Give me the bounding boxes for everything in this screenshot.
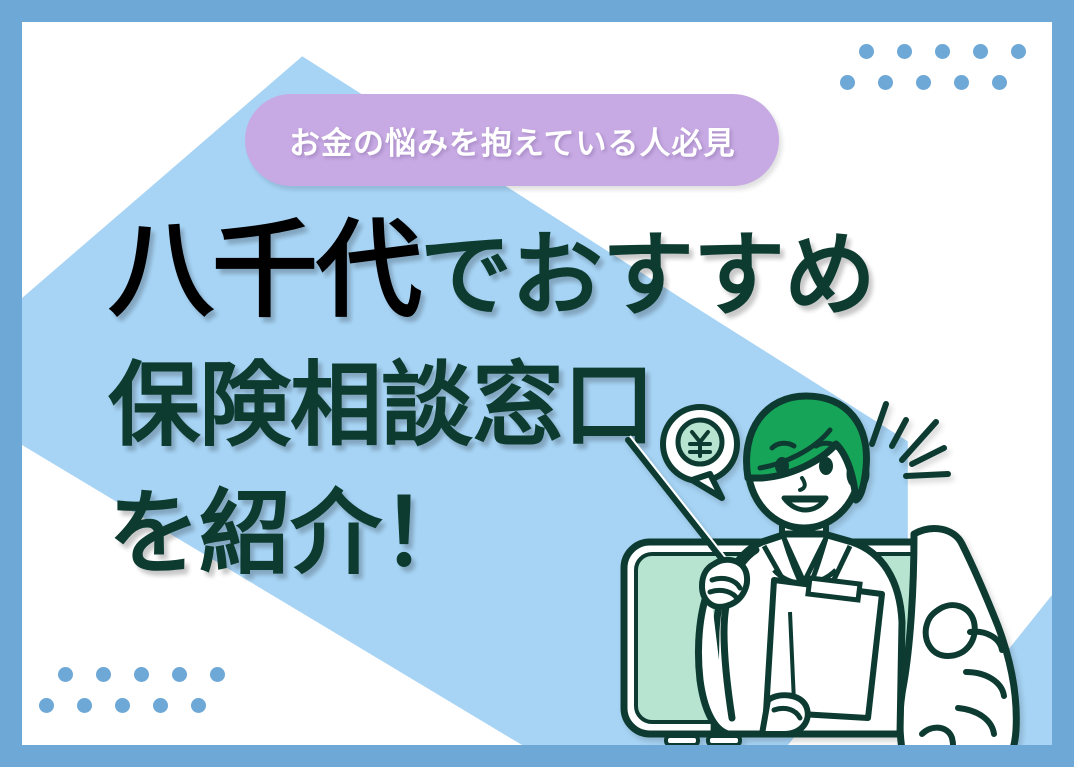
illustration-svg (614, 382, 1052, 745)
headline-line-2-text: 保険相談窓口 (108, 355, 654, 457)
dot-grid-bottom-left (58, 667, 225, 713)
headline-line-1-rest: でおすすめ (420, 225, 875, 327)
highlight-badge-label: お金の悩みを抱えている人必見 (289, 118, 735, 163)
banner-canvas: お金の悩みを抱えている人必見 八千代でおすすめ 保険相談窓口 を紹介！ (22, 22, 1052, 745)
dot (840, 75, 855, 90)
eye-left (775, 457, 789, 475)
dot (115, 698, 130, 713)
dot-row (840, 75, 1026, 90)
dot (878, 75, 893, 90)
dot (153, 698, 168, 713)
headline-location: 八千代 (108, 212, 420, 330)
dot-grid-top-right (859, 44, 1026, 90)
dot-row (58, 667, 225, 682)
emphasis-lines-icon (872, 404, 948, 476)
dot (134, 667, 149, 682)
dot (954, 75, 969, 90)
dot-row (859, 44, 1026, 59)
dot (77, 698, 92, 713)
dot (992, 75, 1007, 90)
dot (39, 698, 54, 713)
dot (191, 698, 206, 713)
dot (96, 667, 111, 682)
holding-hand (900, 529, 1016, 745)
headline-line-1: 八千代でおすすめ (108, 218, 928, 324)
yen-speech-bubble-icon (663, 407, 737, 498)
dot (58, 667, 73, 682)
dot (973, 44, 988, 59)
dot (1011, 44, 1026, 59)
illustration-woman-presenter (614, 382, 1052, 745)
dot-row (39, 698, 225, 713)
dot (935, 44, 950, 59)
eye-right (819, 457, 833, 475)
dot (916, 75, 931, 90)
dot (859, 44, 874, 59)
banner-root: お金の悩みを抱えている人必見 八千代でおすすめ 保険相談窓口 を紹介！ (0, 0, 1074, 767)
highlight-badge: お金の悩みを抱えている人必見 (245, 94, 779, 186)
dot (172, 667, 187, 682)
dot (897, 44, 912, 59)
headline-line-3-text: を紹介！ (108, 483, 472, 585)
dot (210, 667, 225, 682)
